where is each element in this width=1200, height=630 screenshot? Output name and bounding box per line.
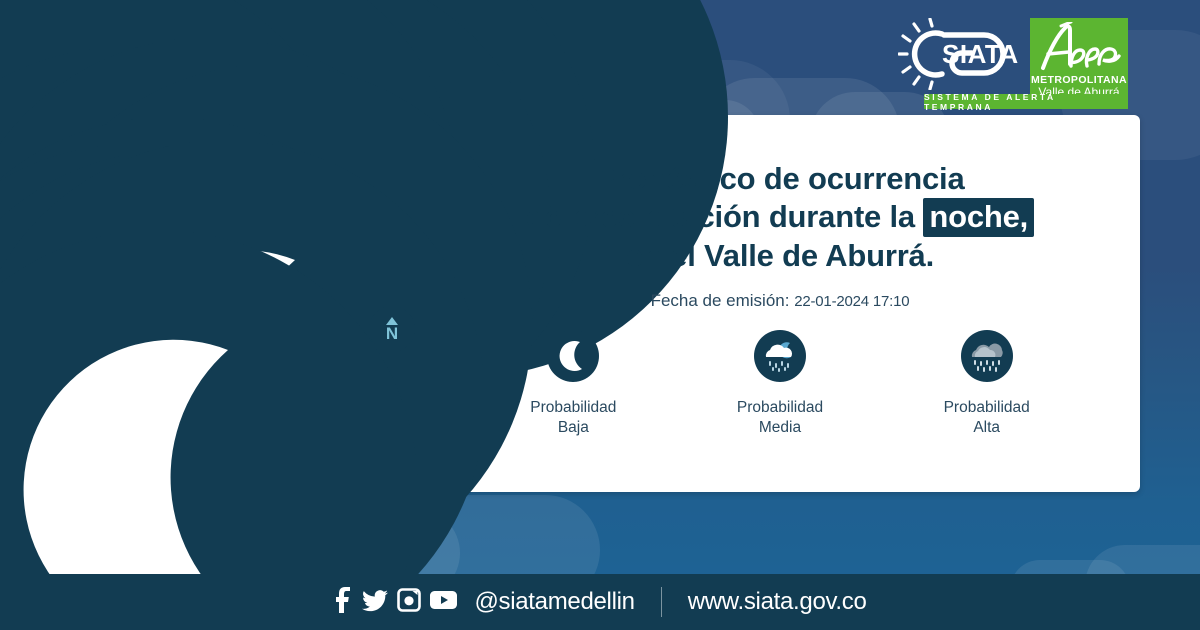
headline-block: Pronóstico de ocurrencia de precipitació… bbox=[470, 160, 1090, 311]
page-title: Pronóstico de ocurrencia de precipitació… bbox=[470, 160, 1090, 275]
website-url[interactable]: www.siata.gov.co bbox=[688, 588, 867, 616]
youtube-icon[interactable] bbox=[430, 590, 457, 615]
social-icon-group bbox=[333, 587, 457, 618]
cloud-rain-moon-icon bbox=[677, 330, 884, 387]
instagram-icon[interactable] bbox=[397, 588, 421, 617]
tagline-bar: SISTEMA DE ALERTA TEMPRANA bbox=[924, 94, 1128, 109]
issue-date-label: Fecha de emisión: bbox=[651, 291, 790, 310]
legend-line-1: Probabilidad bbox=[470, 398, 677, 418]
legend-item-media: Probabilidad Media bbox=[677, 330, 884, 439]
social-handle[interactable]: @siatamedellin bbox=[474, 588, 634, 616]
legend-caption: Probabilidad Baja bbox=[470, 398, 677, 439]
siata-logo: SIATA bbox=[898, 18, 1024, 95]
title-line-1: Pronóstico de ocurrencia bbox=[470, 160, 1090, 198]
legend-item-alta: Probabilidad Alta bbox=[883, 330, 1090, 439]
legend-caption: Probabilidad Alta bbox=[883, 398, 1090, 439]
compass-rose: N bbox=[369, 306, 415, 352]
legend-line-2: Baja bbox=[470, 418, 677, 438]
legend-line-1: Probabilidad bbox=[883, 398, 1090, 418]
facebook-icon[interactable] bbox=[333, 587, 353, 618]
cloud-heavy-rain-icon bbox=[883, 330, 1090, 387]
title-highlight: noche, bbox=[923, 198, 1034, 237]
title-line-2: de precipitación durante la noche, bbox=[470, 198, 1090, 236]
probability-legend: Probabilidad Baja bbox=[470, 330, 1090, 439]
twitter-icon[interactable] bbox=[362, 587, 388, 618]
title-line-3: en el Valle de Aburrá. bbox=[470, 237, 1090, 275]
compass-north-label: N bbox=[386, 326, 398, 341]
issue-date-value: 22-01-2024 17:10 bbox=[794, 293, 909, 310]
legend-line-2: Media bbox=[677, 418, 884, 438]
valle-de-aburra-map: N bbox=[58, 52, 578, 572]
infographic-canvas: N Pronóstico de ocurrencia de precipitac… bbox=[0, 0, 1200, 630]
legend-item-baja: Probabilidad Baja bbox=[470, 330, 677, 439]
svg-text:SIATA: SIATA bbox=[942, 39, 1019, 69]
moon-icon bbox=[470, 330, 677, 387]
moon-icon bbox=[0, 230, 418, 630]
title-line-2-text: de precipitación durante la bbox=[526, 199, 924, 234]
issue-date-row: Fecha de emisión: 22-01-2024 17:10 bbox=[470, 291, 1090, 311]
footer-bar: @siatamedellin www.siata.gov.co bbox=[0, 574, 1200, 630]
legend-line-2: Alta bbox=[883, 418, 1090, 438]
footer-divider bbox=[661, 587, 662, 617]
legend-line-1: Probabilidad bbox=[677, 398, 884, 418]
legend-caption: Probabilidad Media bbox=[677, 398, 884, 439]
